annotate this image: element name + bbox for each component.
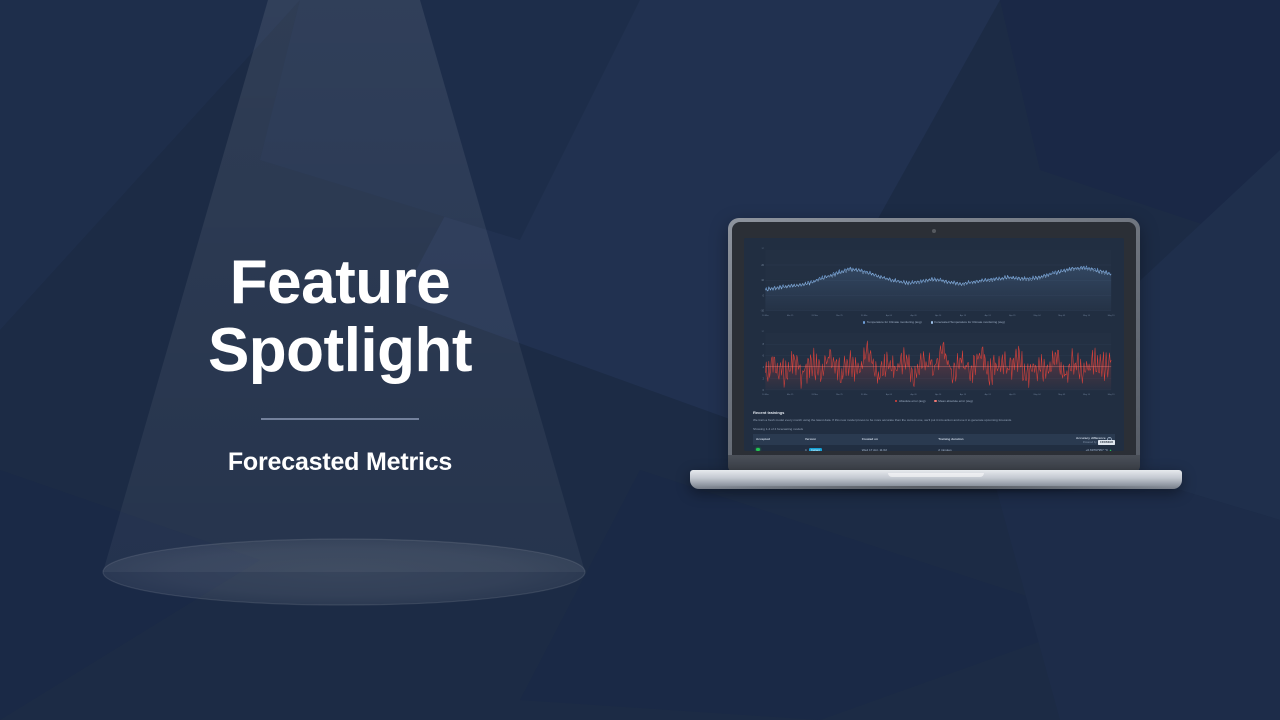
svg-text:May 19: May 19 (1108, 315, 1115, 317)
svg-text:0: 0 (763, 295, 765, 297)
legend-label: Mean absolute error (avg) (938, 399, 973, 403)
recent-trainings-description: We train a fresh model every month using… (753, 418, 1021, 422)
svg-text:May 14: May 14 (1083, 394, 1091, 396)
svg-text:0: 0 (763, 390, 765, 392)
svg-text:Mar 15: Mar 15 (787, 393, 794, 396)
svg-text:Apr 29: Apr 29 (1009, 314, 1016, 317)
svg-text:Apr 24: Apr 24 (985, 393, 992, 396)
error-chart-legend: Absolute error (avg) Mean absolute error… (753, 399, 1115, 403)
temperature-chart-svg: -1001020°C10 MarMar 1520 MarMar 2530 Mar… (753, 245, 1115, 319)
forecasting-dashboard: -1001020°C10 MarMar 1520 MarMar 2530 Mar… (744, 238, 1124, 451)
svg-text:6: 6 (763, 355, 765, 357)
temperature-chart-legend: Temperature for Climate monitoring (avg)… (753, 320, 1115, 324)
cell-created-on: Wed 17 Apr, 11:02 (859, 445, 935, 451)
legend-label: Temperature for Climate monitoring (avg) (867, 320, 922, 324)
legend-swatch-icon (931, 321, 933, 323)
svg-text:20 Mar: 20 Mar (812, 393, 819, 396)
svg-text:2: 2 (763, 378, 765, 380)
svg-text:May 19: May 19 (1108, 394, 1115, 396)
legend-swatch-icon (863, 321, 865, 323)
trainings-table-body: 4CurrentWed 17 Apr, 11:022 minutes+0.697… (753, 445, 1115, 451)
svg-text:May 09: May 09 (1058, 315, 1066, 317)
svg-text:May 14: May 14 (1083, 315, 1091, 317)
svg-text:Mar 15: Mar 15 (787, 314, 794, 317)
version-number: 4 (805, 448, 807, 451)
powered-by: Powered by CROSSER (1083, 440, 1115, 445)
brand-logo: CROSSER (1098, 440, 1115, 445)
error-chart-svg: 02468°C10 MarMar 1520 MarMar 2530 MarApr… (753, 328, 1115, 398)
svg-text:10: 10 (761, 280, 764, 282)
webcam-icon (932, 229, 936, 233)
svg-text:30 Mar: 30 Mar (861, 393, 868, 396)
trainings-table-head: Accepted Version Created on Training dur… (753, 434, 1115, 445)
svg-text:Mar 25: Mar 25 (836, 314, 843, 317)
table-header-row: Accepted Version Created on Training dur… (753, 434, 1115, 445)
temperature-chart: -1001020°C10 MarMar 1520 MarMar 2530 Mar… (753, 245, 1115, 325)
results-count: Showing 1-4 of 4 forecasting models (753, 427, 1115, 431)
page-title-line-2: Spotlight (0, 320, 680, 382)
powered-by-label: Powered by (1083, 441, 1097, 445)
legend-item[interactable]: Temperature for Climate monitoring (avg) (863, 320, 921, 324)
svg-text:10 Mar: 10 Mar (762, 314, 769, 317)
legend-swatch-icon (895, 400, 897, 402)
legend-label: Forecasted Temperature for Climate monit… (934, 320, 1004, 324)
svg-text:Apr 09: Apr 09 (911, 314, 918, 317)
svg-text:Apr 14: Apr 14 (935, 314, 942, 317)
slide-canvas: Feature Spotlight Forecasted Metrics -10… (0, 0, 1280, 720)
title-divider (261, 418, 419, 420)
svg-text:Apr 29: Apr 29 (1009, 393, 1016, 396)
svg-text:°C: °C (762, 331, 765, 333)
svg-text:Apr 14: Apr 14 (935, 393, 942, 396)
laptop-mockup: -1001020°C10 MarMar 1520 MarMar 2530 Mar… (690, 218, 1182, 500)
status-accepted-icon (756, 448, 760, 451)
trend-up-icon: ▲ (1109, 448, 1112, 451)
table-row[interactable]: 4CurrentWed 17 Apr, 11:022 minutes+0.697… (753, 445, 1115, 451)
svg-text:20: 20 (761, 265, 764, 267)
error-chart: 02468°C10 MarMar 1520 MarMar 2530 MarApr… (753, 328, 1115, 404)
recent-trainings-heading: Recent trainings (753, 410, 1115, 416)
laptop-base-notch (888, 473, 984, 477)
svg-text:Apr 04: Apr 04 (886, 314, 893, 317)
legend-item[interactable]: Mean absolute error (avg) (934, 399, 972, 403)
laptop-shadow (702, 486, 1170, 494)
trainings-table: Accepted Version Created on Training dur… (753, 434, 1115, 451)
svg-text:10 Mar: 10 Mar (762, 393, 769, 396)
laptop-bezel: -1001020°C10 MarMar 1520 MarMar 2530 Mar… (732, 222, 1136, 465)
svg-text:20 Mar: 20 Mar (812, 314, 819, 317)
title-block: Feature Spotlight Forecasted Metrics (0, 252, 680, 477)
svg-text:Apr 04: Apr 04 (886, 393, 893, 396)
accuracy-value: +0.69797957 °C (1086, 448, 1109, 451)
svg-text:4: 4 (763, 367, 765, 369)
cell-accepted (753, 445, 802, 451)
legend-swatch-icon (934, 400, 936, 402)
page-title-line-1: Feature (0, 252, 680, 314)
svg-text:Apr 19: Apr 19 (960, 393, 967, 396)
laptop-screen: -1001020°C10 MarMar 1520 MarMar 2530 Mar… (744, 238, 1124, 451)
svg-text:May 09: May 09 (1058, 394, 1066, 396)
svg-text:8: 8 (763, 344, 765, 346)
svg-text:May 04: May 04 (1034, 394, 1042, 396)
svg-text:Mar 25: Mar 25 (836, 393, 843, 396)
legend-label: Absolute error (avg) (899, 399, 926, 403)
svg-text:Apr 19: Apr 19 (960, 314, 967, 317)
page-subtitle: Forecasted Metrics (0, 448, 680, 477)
column-header-created-on[interactable]: Created on (859, 434, 935, 445)
legend-item[interactable]: Forecasted Temperature for Climate monit… (931, 320, 1005, 324)
cell-training-duration: 2 minutes (935, 445, 1012, 451)
svg-text:May 04: May 04 (1034, 315, 1042, 317)
current-version-badge: Current (809, 448, 822, 451)
legend-item[interactable]: Absolute error (avg) (895, 399, 925, 403)
svg-text:°C: °C (762, 248, 765, 250)
svg-text:Apr 24: Apr 24 (985, 314, 992, 317)
svg-text:Apr 09: Apr 09 (911, 393, 918, 396)
cell-accuracy-difference: +0.69797957 °C ▲ (1012, 445, 1115, 451)
svg-text:-10: -10 (761, 311, 765, 313)
laptop-lid: -1001020°C10 MarMar 1520 MarMar 2530 Mar… (728, 218, 1140, 469)
column-header-version[interactable]: Version (802, 434, 859, 445)
column-header-accepted[interactable]: Accepted (753, 434, 802, 445)
column-header-training-duration[interactable]: Training duration (935, 434, 1012, 445)
cell-version: 4Current (802, 445, 859, 451)
svg-text:30 Mar: 30 Mar (861, 314, 868, 317)
